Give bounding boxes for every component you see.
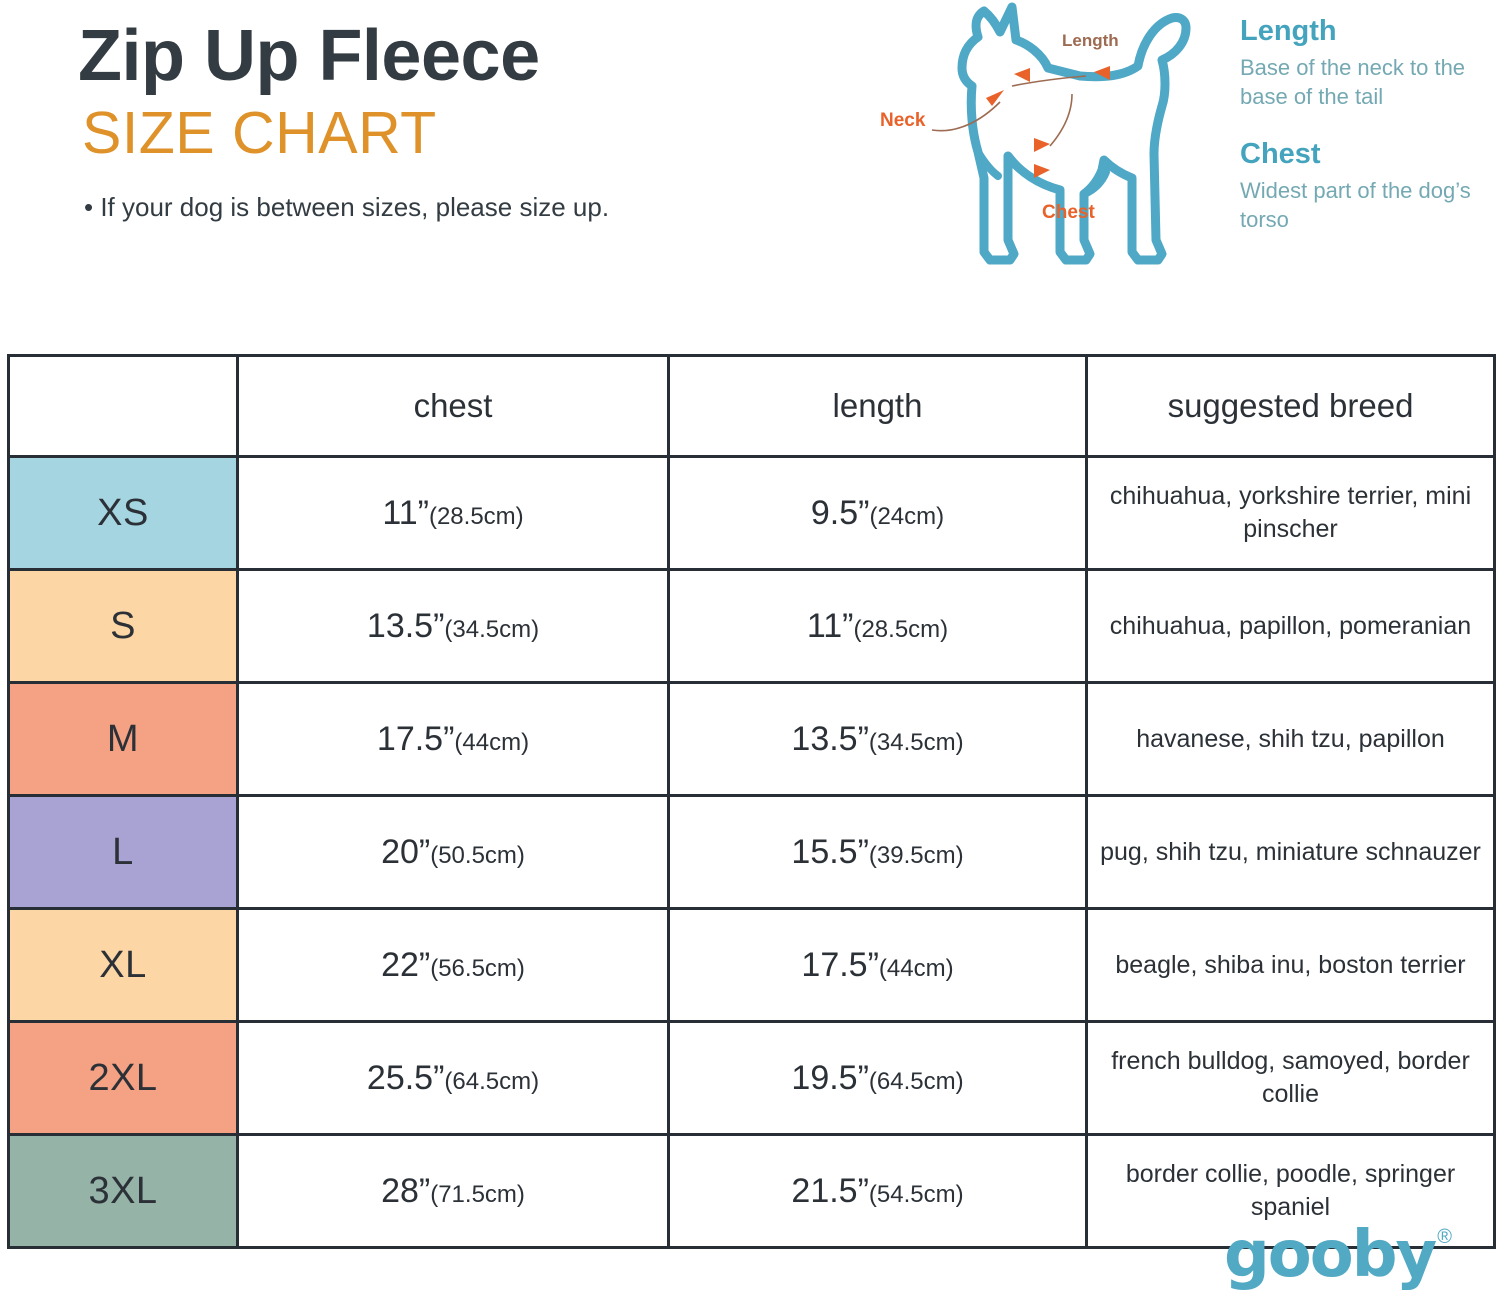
chest-centimeters: (56.5cm) (430, 955, 525, 982)
chest-inches: 28” (381, 1172, 430, 1210)
suggested-breed-value: beagle, shiba inu, boston terrier (1087, 909, 1495, 1022)
suggested-breed-value: chihuahua, papillon, pomeranian (1087, 570, 1495, 683)
chest-value: 20”(50.5cm) (238, 796, 669, 909)
chest-value: 25.5”(64.5cm) (238, 1022, 669, 1135)
length-centimeters: (24cm) (869, 503, 944, 530)
suggested-breed-value: pug, shih tzu, miniature schnauzer (1087, 796, 1495, 909)
chest-value: 28”(71.5cm) (238, 1135, 669, 1248)
chest-inches: 20” (381, 833, 430, 871)
suggested-breed-value: havanese, shih tzu, papillon (1087, 683, 1495, 796)
table-row: XL22”(56.5cm)17.5”(44cm)beagle, shiba in… (9, 909, 1495, 1022)
length-inches: 19.5” (791, 1059, 869, 1097)
length-value: 19.5”(64.5cm) (669, 1022, 1087, 1135)
suggested-breed-value: french bulldog, samoyed, border collie (1087, 1022, 1495, 1135)
chest-centimeters: (71.5cm) (430, 1181, 525, 1208)
legend-desc-length: Base of the neck to the base of the tail (1240, 53, 1490, 112)
chart-subtitle: SIZE CHART (82, 100, 838, 166)
chest-arrowhead-upper (1034, 138, 1050, 152)
length-inches: 15.5” (791, 833, 869, 871)
table-row: S13.5”(34.5cm)11”(28.5cm)chihuahua, papi… (9, 570, 1495, 683)
legend-term-length: Length (1240, 14, 1490, 49)
brand-logo: gooby ® (1224, 1223, 1452, 1287)
length-value: 15.5”(39.5cm) (669, 796, 1087, 909)
chest-arrowhead-lower (1034, 164, 1050, 178)
legend-entry-length: Length Base of the neck to the base of t… (1240, 14, 1490, 111)
measurement-arrows (932, 76, 1086, 146)
column-header-length: length (669, 356, 1087, 457)
legend-desc-chest: Widest part of the dog’s torso (1240, 176, 1490, 235)
chest-centimeters: (34.5cm) (444, 616, 539, 643)
table-row: 2XL25.5”(64.5cm)19.5”(64.5cm)french bull… (9, 1022, 1495, 1135)
length-centimeters: (64.5cm) (869, 1068, 964, 1095)
sizing-note: • If your dog is between sizes, please s… (84, 192, 838, 223)
size-label-3xl: 3XL (9, 1135, 238, 1248)
column-header-breed: suggested breed (1087, 356, 1495, 457)
table-row: M17.5”(44cm)13.5”(34.5cm)havanese, shih … (9, 683, 1495, 796)
length-centimeters: (54.5cm) (869, 1181, 964, 1208)
length-inches: 17.5” (801, 946, 879, 984)
header-area: Zip Up Fleece SIZE CHART • If your dog i… (0, 0, 1500, 352)
neck-label-text: Neck (880, 110, 926, 131)
measurement-legend: Length Base of the neck to the base of t… (1240, 14, 1490, 261)
length-inches: 11” (807, 607, 854, 645)
length-inches: 13.5” (791, 720, 869, 758)
chest-value: 17.5”(44cm) (238, 683, 669, 796)
registered-trademark-icon: ® (1437, 1227, 1452, 1247)
column-header-size (9, 356, 238, 457)
length-arrowhead-left (1014, 68, 1030, 82)
size-label-2xl: 2XL (9, 1022, 238, 1135)
length-inches: 9.5” (811, 494, 870, 532)
page-title: Zip Up Fleece (78, 18, 838, 94)
length-value: 21.5”(54.5cm) (669, 1135, 1087, 1248)
suggested-breed-value: chihuahua, yorkshire terrier, mini pinsc… (1087, 457, 1495, 570)
chest-label-text: Chest (1042, 202, 1095, 223)
chest-inches: 25.5” (367, 1059, 445, 1097)
size-label-s: S (9, 570, 238, 683)
length-value: 17.5”(44cm) (669, 909, 1087, 1022)
size-label-xs: XS (9, 457, 238, 570)
size-label-m: M (9, 683, 238, 796)
chest-leader-line (1050, 94, 1072, 146)
table-body: XS11”(28.5cm)9.5”(24cm)chihuahua, yorksh… (9, 457, 1495, 1248)
size-label-xl: XL (9, 909, 238, 1022)
legend-term-chest: Chest (1240, 137, 1490, 172)
neck-leader-line (932, 102, 1000, 131)
table-row: XS11”(28.5cm)9.5”(24cm)chihuahua, yorksh… (9, 457, 1495, 570)
chest-value: 13.5”(34.5cm) (238, 570, 669, 683)
chest-centimeters: (44cm) (454, 729, 529, 756)
chest-inches: 17.5” (377, 720, 455, 758)
chest-inches: 22” (381, 946, 430, 984)
chest-value: 11”(28.5cm) (238, 457, 669, 570)
size-chart-table: chest length suggested breed XS11”(28.5c… (7, 354, 1496, 1249)
size-label-l: L (9, 796, 238, 909)
length-label-text: Length (1062, 31, 1119, 50)
chest-centimeters: (28.5cm) (429, 503, 524, 530)
table-row: L20”(50.5cm)15.5”(39.5cm)pug, shih tzu, … (9, 796, 1495, 909)
length-centimeters: (39.5cm) (869, 842, 964, 869)
chest-inches: 13.5” (367, 607, 445, 645)
length-value: 11”(28.5cm) (669, 570, 1087, 683)
length-centimeters: (44cm) (879, 955, 954, 982)
length-centimeters: (34.5cm) (869, 729, 964, 756)
chest-inches: 11” (382, 494, 429, 532)
table-header-row: chest length suggested breed (9, 356, 1495, 457)
brand-wordmark: gooby (1224, 1223, 1435, 1287)
column-header-chest: chest (238, 356, 669, 457)
length-value: 9.5”(24cm) (669, 457, 1087, 570)
chest-centimeters: (50.5cm) (430, 842, 525, 869)
legend-entry-chest: Chest Widest part of the dog’s torso (1240, 137, 1490, 234)
length-value: 13.5”(34.5cm) (669, 683, 1087, 796)
length-centimeters: (28.5cm) (853, 616, 948, 643)
neck-arrowhead (986, 90, 1004, 106)
dog-measurement-diagram: Neck Length Chest (866, 2, 1226, 287)
chest-centimeters: (64.5cm) (444, 1068, 539, 1095)
chest-value: 22”(56.5cm) (238, 909, 669, 1022)
title-block: Zip Up Fleece SIZE CHART • If your dog i… (78, 18, 838, 223)
length-inches: 21.5” (791, 1172, 869, 1210)
